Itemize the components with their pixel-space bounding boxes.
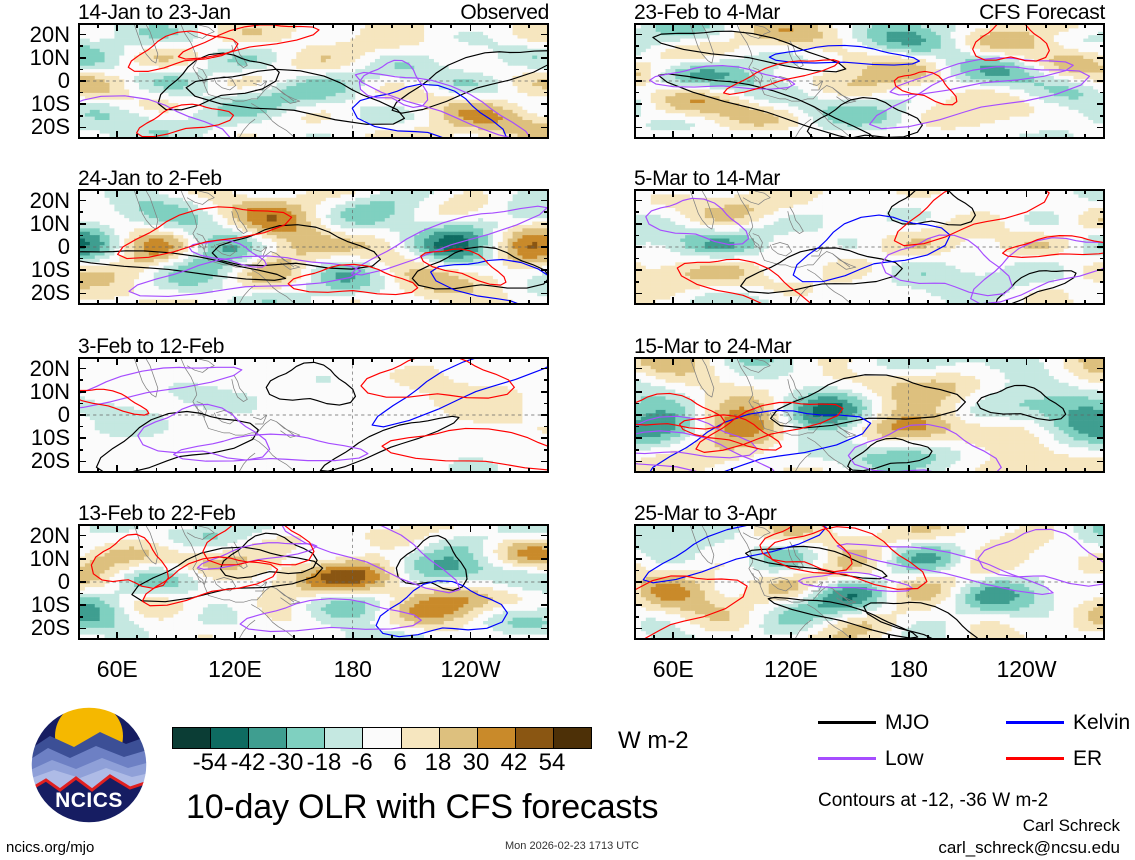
y-ticks-left-7 <box>78 524 86 640</box>
x-ticks-top-4 <box>634 189 1105 197</box>
colorbar <box>172 727 592 749</box>
map-field-6 <box>636 359 1103 471</box>
y-tick-label-20N: 20N <box>0 24 70 46</box>
y-tick-label-10N: 10N <box>0 213 70 235</box>
x-ticks-top-8 <box>634 524 1105 532</box>
author-email: carl_schreck@ncsu.edu <box>860 839 1120 856</box>
panel-title-3: 24-Jan to 2-Feb <box>78 168 222 189</box>
x-ticks-bottom-6 <box>634 465 1105 473</box>
map-panel-5 <box>78 357 549 473</box>
legend-label: MJO <box>885 712 929 733</box>
colorbar-tick-42: 42 <box>501 751 528 775</box>
y-tick-label-10S: 10S <box>0 594 70 616</box>
colorbar-swatch-7 <box>401 728 439 748</box>
y-ticks-right-8 <box>1097 524 1105 640</box>
x-ticks-top-6 <box>634 357 1105 365</box>
x-ticks-top-2 <box>634 23 1105 31</box>
x-tick-label-col1-120E: 120E <box>208 658 262 681</box>
legend-line-low-icon <box>818 757 876 760</box>
y-ticks-right-1 <box>541 23 549 139</box>
panel-title-7: 13-Feb to 22-Feb <box>78 503 235 524</box>
x-ticks-bottom-8 <box>634 632 1105 640</box>
y-tick-label-20N: 20N <box>0 358 70 380</box>
y-ticks-left-3 <box>78 189 86 305</box>
legend-line-er-icon <box>1006 757 1064 760</box>
y-tick-label-10S: 10S <box>0 427 70 449</box>
colorbar-swatch-8 <box>439 728 477 748</box>
y-tick-label-20N: 20N <box>0 525 70 547</box>
colorbar-swatch-11 <box>553 728 591 748</box>
map-field-2 <box>636 25 1103 137</box>
y-ticks-left-8 <box>634 524 642 640</box>
y-tick-label-0: 0 <box>0 404 70 426</box>
colorbar-tick--42: -42 <box>231 751 266 775</box>
y-ticks-left-5 <box>78 357 86 473</box>
x-tick-label-col1-60E: 60E <box>97 658 138 681</box>
legend-label: Low <box>885 748 924 769</box>
colorbar-tick-54: 54 <box>539 751 566 775</box>
legend-label: Kelvin x2 <box>1073 712 1135 733</box>
y-ticks-right-5 <box>541 357 549 473</box>
site-url: ncics.org/mjo <box>6 840 94 855</box>
y-tick-label-10N: 10N <box>0 381 70 403</box>
x-ticks-top-3 <box>78 189 549 197</box>
legend-item-low: Low <box>818 748 924 769</box>
map-field-3 <box>80 191 547 303</box>
y-tick-label-20N: 20N <box>0 190 70 212</box>
map-field-7 <box>80 526 547 638</box>
legend-item-mjo: MJO <box>818 712 929 733</box>
y-tick-label-0: 0 <box>0 236 70 258</box>
map-field-4 <box>636 191 1103 303</box>
x-ticks-top-1 <box>78 23 549 31</box>
map-panel-1 <box>78 23 549 139</box>
colorbar-tick--6: -6 <box>351 751 372 775</box>
colorbar-tick-30: 30 <box>463 751 490 775</box>
column-header-cfs-forecast: CFS Forecast <box>634 2 1105 23</box>
contour-note: Contours at -12, -36 W m-2 <box>818 791 1048 810</box>
map-panel-6 <box>634 357 1105 473</box>
x-ticks-bottom-4 <box>634 297 1105 305</box>
legend-line-mjo-icon <box>818 721 876 724</box>
map-panel-7 <box>78 524 549 640</box>
author-name: Carl Schreck <box>880 817 1120 834</box>
x-ticks-bottom-3 <box>78 297 549 305</box>
x-ticks-bottom-1 <box>78 131 549 139</box>
y-ticks-right-6 <box>1097 357 1105 473</box>
colorbar-tick--18: -18 <box>307 751 342 775</box>
x-ticks-bottom-2 <box>634 131 1105 139</box>
column-header-observed: Observed <box>78 2 549 23</box>
timestamp: Mon 2026-02-23 1713 UTC <box>505 841 639 852</box>
colorbar-swatch-4 <box>286 728 324 748</box>
main-title: 10-day OLR with CFS forecasts <box>186 790 658 824</box>
colorbar-units-label: W m-2 <box>618 729 689 753</box>
panel-title-6: 15-Mar to 24-Mar <box>634 336 791 357</box>
colorbar-swatch-1 <box>173 728 210 748</box>
ncics-logo: NCICS <box>30 706 148 824</box>
colorbar-swatch-10 <box>515 728 553 748</box>
panel-title-5: 3-Feb to 12-Feb <box>78 336 224 357</box>
y-ticks-left-4 <box>634 189 642 305</box>
legend-item-kelvin-x2: Kelvin x2 <box>1006 712 1135 733</box>
colorbar-tick-18: 18 <box>425 751 452 775</box>
x-tick-label-col1-120W: 120W <box>440 658 500 681</box>
legend-label: ER <box>1073 748 1102 769</box>
y-tick-label-0: 0 <box>0 70 70 92</box>
panel-title-4: 5-Mar to 14-Mar <box>634 168 780 189</box>
y-ticks-right-3 <box>541 189 549 305</box>
y-tick-label-20S: 20S <box>0 450 70 472</box>
x-tick-label-col2-180: 180 <box>890 658 928 681</box>
y-ticks-right-4 <box>1097 189 1105 305</box>
colorbar-swatch-2 <box>210 728 248 748</box>
x-ticks-top-7 <box>78 524 549 532</box>
y-tick-label-10N: 10N <box>0 548 70 570</box>
x-ticks-bottom-5 <box>78 465 549 473</box>
x-tick-label-col1-180: 180 <box>334 658 372 681</box>
map-panel-3 <box>78 189 549 305</box>
colorbar-swatch-6 <box>362 728 400 748</box>
panel-title-8: 25-Mar to 3-Apr <box>634 503 777 524</box>
map-panel-8 <box>634 524 1105 640</box>
x-tick-label-col2-60E: 60E <box>653 658 694 681</box>
legend-line-kelvin-x2-icon <box>1006 721 1064 724</box>
map-panel-4 <box>634 189 1105 305</box>
colorbar-tick-labels: -54-42-30-18-6618304254 <box>172 751 590 779</box>
y-tick-label-10N: 10N <box>0 47 70 69</box>
legend-item-er: ER <box>1006 748 1102 769</box>
colorbar-swatch-5 <box>324 728 362 748</box>
y-tick-label-20S: 20S <box>0 617 70 639</box>
map-panel-2 <box>634 23 1105 139</box>
x-ticks-bottom-7 <box>78 632 549 640</box>
y-tick-label-10S: 10S <box>0 93 70 115</box>
x-ticks-top-5 <box>78 357 549 365</box>
map-field-8 <box>636 526 1103 638</box>
y-tick-label-0: 0 <box>0 571 70 593</box>
x-tick-label-col2-120E: 120E <box>764 658 818 681</box>
ncics-logo-graphic: NCICS <box>30 706 148 824</box>
colorbar-swatch-9 <box>477 728 515 748</box>
colorbar-swatch-3 <box>248 728 286 748</box>
colorbar-tick--30: -30 <box>269 751 304 775</box>
y-tick-label-20S: 20S <box>0 116 70 138</box>
map-field-5 <box>80 359 547 471</box>
y-ticks-left-1 <box>78 23 86 139</box>
y-ticks-left-6 <box>634 357 642 473</box>
y-tick-label-20S: 20S <box>0 282 70 304</box>
y-tick-label-10S: 10S <box>0 259 70 281</box>
map-field-1 <box>80 25 547 137</box>
y-ticks-right-2 <box>1097 23 1105 139</box>
colorbar-tick--54: -54 <box>193 751 228 775</box>
y-ticks-left-2 <box>634 23 642 139</box>
colorbar-tick-6: 6 <box>393 751 406 775</box>
y-ticks-right-7 <box>541 524 549 640</box>
x-tick-label-col2-120W: 120W <box>996 658 1056 681</box>
